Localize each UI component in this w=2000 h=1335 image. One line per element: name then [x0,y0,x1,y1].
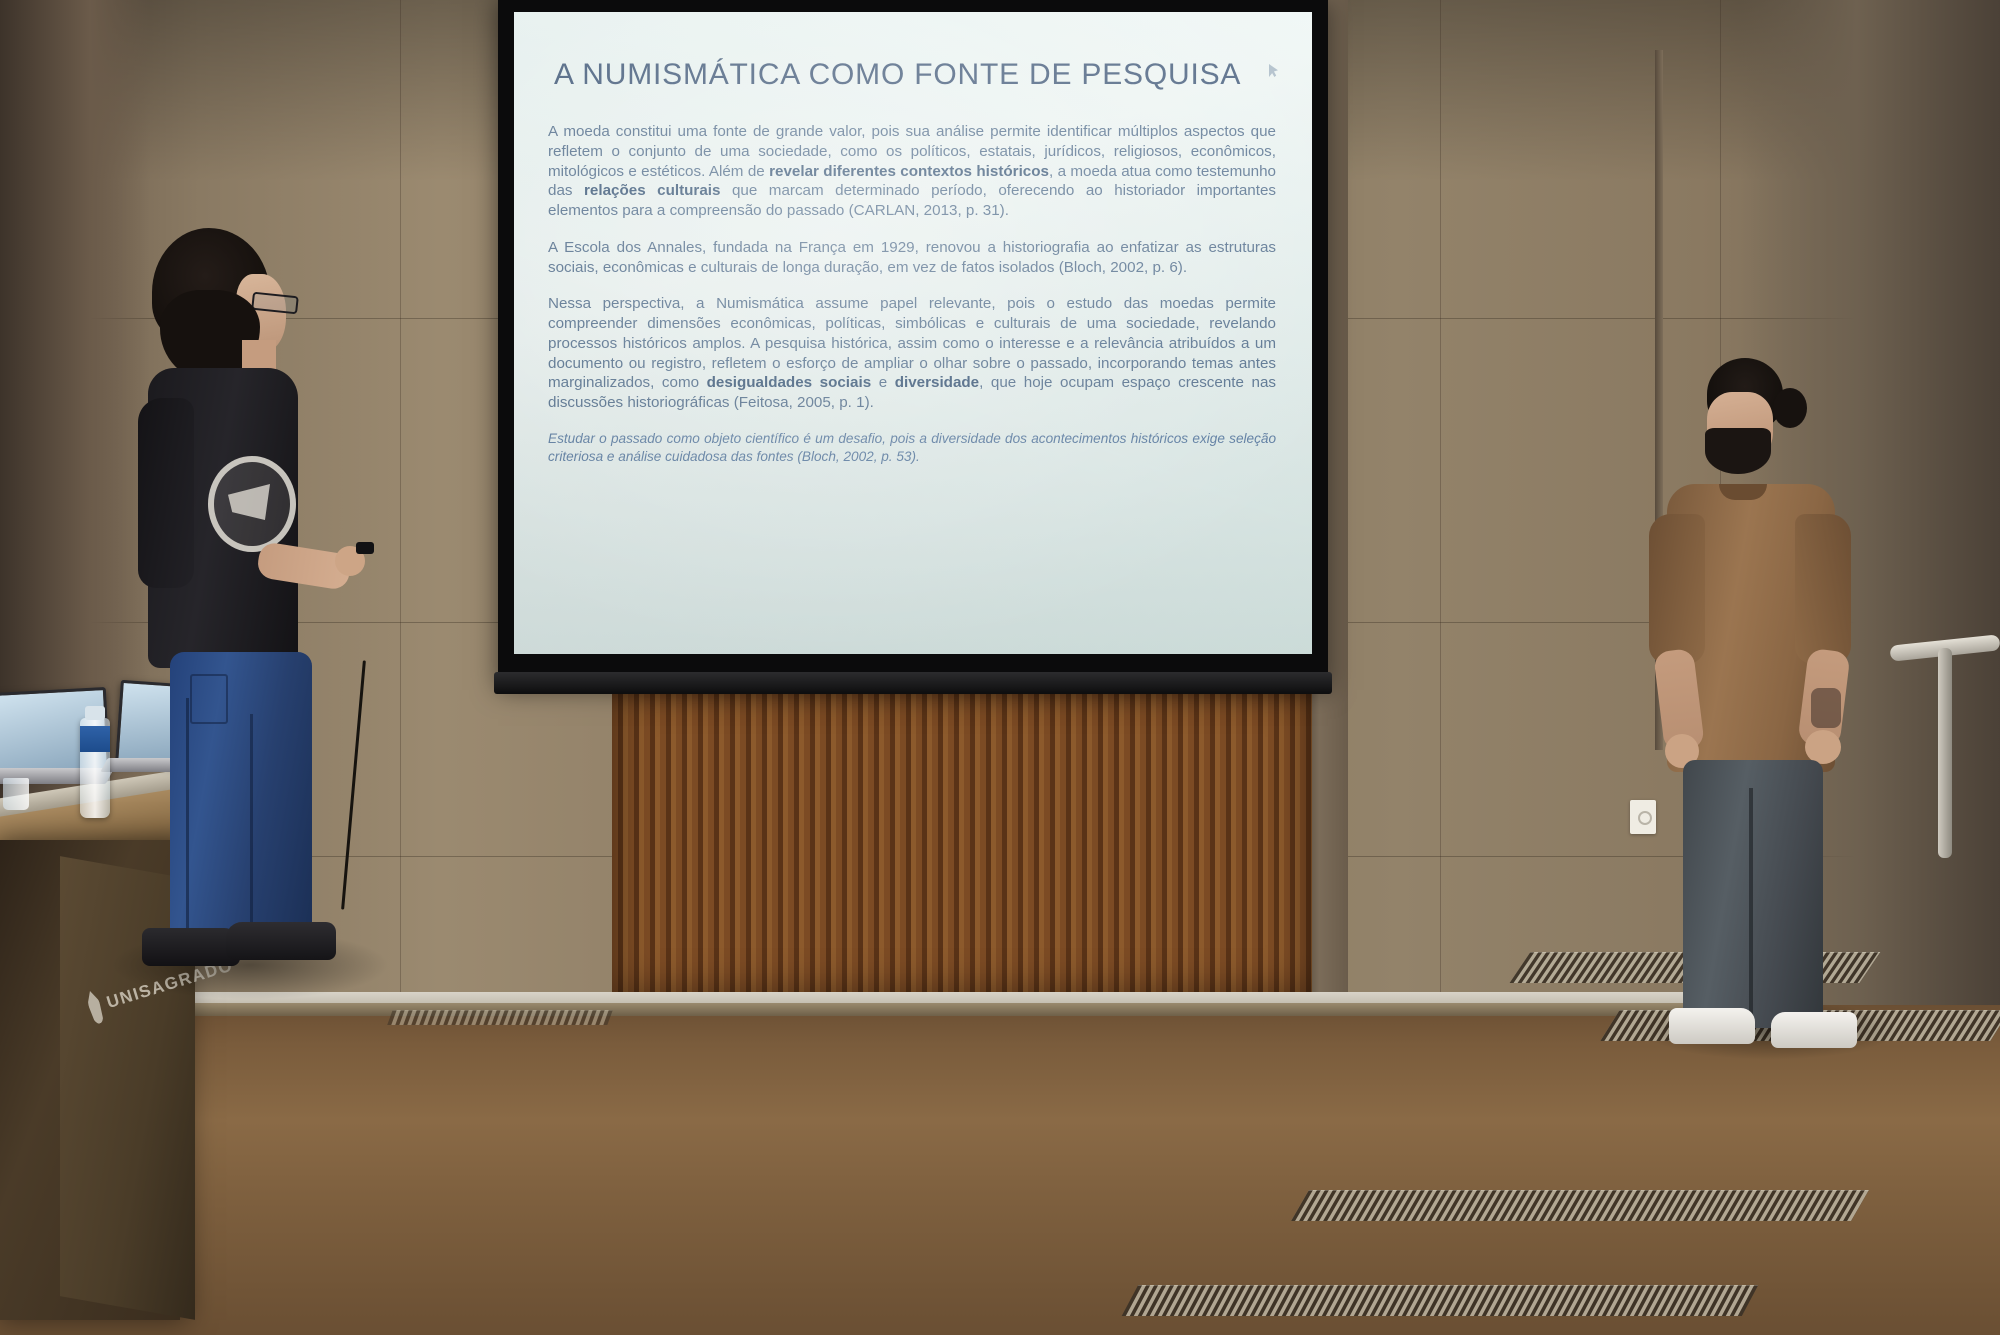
right-presenter [1645,358,1895,1048]
slide-bold-run: diversidade [895,374,979,391]
jeans-fold [250,714,253,928]
presentation-room-photo: A NUMISMÁTICA COMO FONTE DE PESQUISA A m… [0,0,2000,1335]
left-presenter [130,228,380,963]
bottle-cap[interactable] [85,706,105,720]
sleeve [138,398,194,588]
sleeve [1649,514,1705,664]
slide-text-run: e [871,374,895,391]
bottle-label [80,726,110,752]
floor-grille [1122,1285,1758,1316]
slide-paragraph: Nessa perspectiva, a Numismática assume … [548,294,1276,413]
slide-paragraph: A moeda constitui uma fonte de grande va… [548,122,1276,221]
t-shirt-graphic [208,456,296,552]
slide-paragraph: Estudar o passado como objeto científico… [548,430,1276,466]
slide-bold-run: relações culturais [584,182,720,199]
slide-content: A NUMISMÁTICA COMO FONTE DE PESQUISA A m… [514,12,1312,654]
screen-roller-bar [494,672,1332,694]
wall-seam-vertical [400,0,401,1010]
slide-paragraph: A Escola dos Annales, fundada na França … [548,238,1276,278]
slide-text-run: Estudar o passado como objeto científico… [548,431,1276,464]
presentation-clicker[interactable] [356,542,374,554]
jeans-fold [186,698,189,928]
hand [1805,730,1841,764]
shoe [226,922,336,960]
wall-seam-vertical [1440,0,1441,1010]
slide-title: A NUMISMÁTICA COMO FONTE DE PESQUISA [554,58,1276,92]
floor-grille [387,1010,612,1025]
projection-screen: A NUMISMÁTICA COMO FONTE DE PESQUISA A m… [498,0,1328,682]
slide-bold-run: desigualdades sociais [707,374,872,391]
sleeve [1795,514,1851,664]
slide-body: A moeda constitui uma fonte de grande va… [548,122,1276,466]
drinking-cup[interactable] [3,778,29,810]
floor-grille [1291,1190,1869,1221]
jeans-pocket [190,674,228,724]
trousers [1683,760,1823,1028]
projected-slide: A NUMISMÁTICA COMO FONTE DE PESQUISA A m… [514,12,1312,654]
hair-bun [1773,388,1807,428]
handrail-post [1938,648,1952,858]
trousers-fold [1749,788,1753,1020]
slide-bold-run: revelar diferentes contextos históricos [769,163,1049,180]
sneaker [1771,1012,1857,1048]
sneaker [1669,1008,1755,1044]
slide-text-run: A Escola dos Annales, fundada na França … [548,239,1276,276]
tattoo [1811,688,1841,728]
slat-wood-panel [612,690,1312,992]
floor-edge-strip [105,1003,1745,1016]
